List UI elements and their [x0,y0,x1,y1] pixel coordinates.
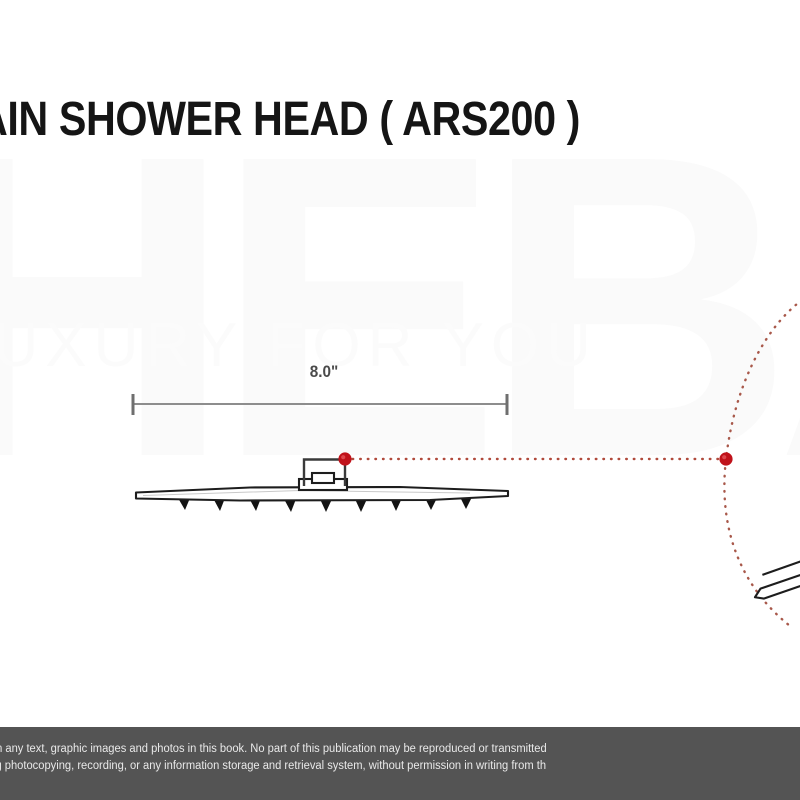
connector-collar [312,473,334,483]
shower-head-front-view [136,452,508,512]
shower-head-rotated-view [748,543,800,609]
bracket-edge-rotated [762,547,800,575]
product-spec-page: HEBA LUXURY FOR YOU AIN SHOWER HEAD ( AR… [0,0,800,800]
copyright-line-1: rs retain all copyrights in any text, gr… [0,741,800,758]
dimension-line-group [132,394,508,415]
rotation-arc [724,300,800,626]
shower-plate-rotated [752,556,800,601]
dimension-label-width: 8.0" [292,362,357,382]
copyright-line-2: or mechanical, including photocopying, r… [0,758,800,775]
pivot-point-head-highlight [341,455,345,459]
pivot-point-head[interactable] [338,452,351,465]
pivot-point-arc-center-highlight [722,455,726,459]
rotation-guide-group [345,300,800,626]
technical-drawing [0,0,800,800]
copyright-footer: rs retain all copyrights in any text, gr… [0,727,800,800]
pivot-point-arc-center[interactable] [719,452,732,465]
